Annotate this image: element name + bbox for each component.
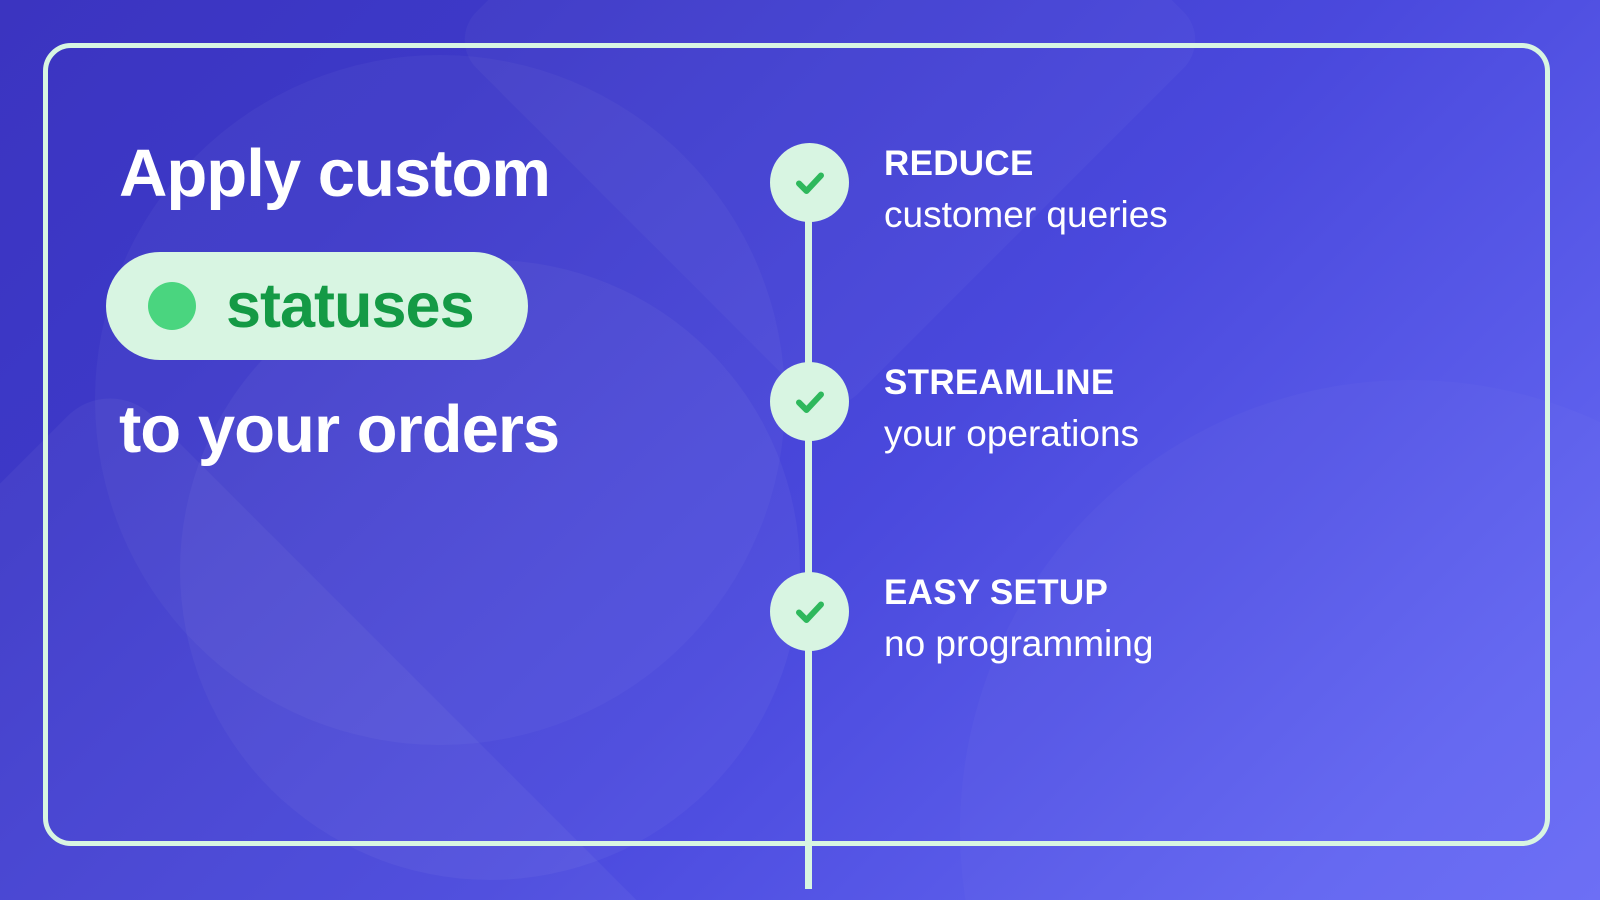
benefit-item-reduce: REDUCE customer queries (770, 143, 1168, 236)
headline-line-1: Apply custom (119, 140, 719, 207)
promo-banner: Apply custom statuses to your orders RED… (0, 0, 1600, 900)
status-dot-icon (148, 282, 196, 330)
status-pill-label: statuses (226, 275, 474, 338)
benefit-subtitle: customer queries (884, 194, 1168, 235)
check-icon (770, 572, 849, 651)
benefit-title: REDUCE (884, 144, 1168, 183)
headline-line-2: to your orders (119, 396, 559, 463)
timeline-connector-line (805, 183, 812, 889)
benefit-text-reduce: REDUCE customer queries (884, 143, 1168, 236)
benefit-subtitle: your operations (884, 413, 1139, 454)
benefit-subtitle: no programming (884, 623, 1153, 664)
benefit-text-easy-setup: EASY SETUP no programming (884, 572, 1153, 665)
benefit-title: EASY SETUP (884, 573, 1153, 612)
status-pill[interactable]: statuses (106, 252, 528, 360)
benefit-item-easy-setup: EASY SETUP no programming (770, 572, 1153, 665)
benefit-title: STREAMLINE (884, 363, 1139, 402)
check-icon (770, 362, 849, 441)
benefit-text-streamline: STREAMLINE your operations (884, 362, 1139, 455)
benefit-item-streamline: STREAMLINE your operations (770, 362, 1139, 455)
check-icon (770, 143, 849, 222)
headline-block: Apply custom (119, 140, 719, 207)
